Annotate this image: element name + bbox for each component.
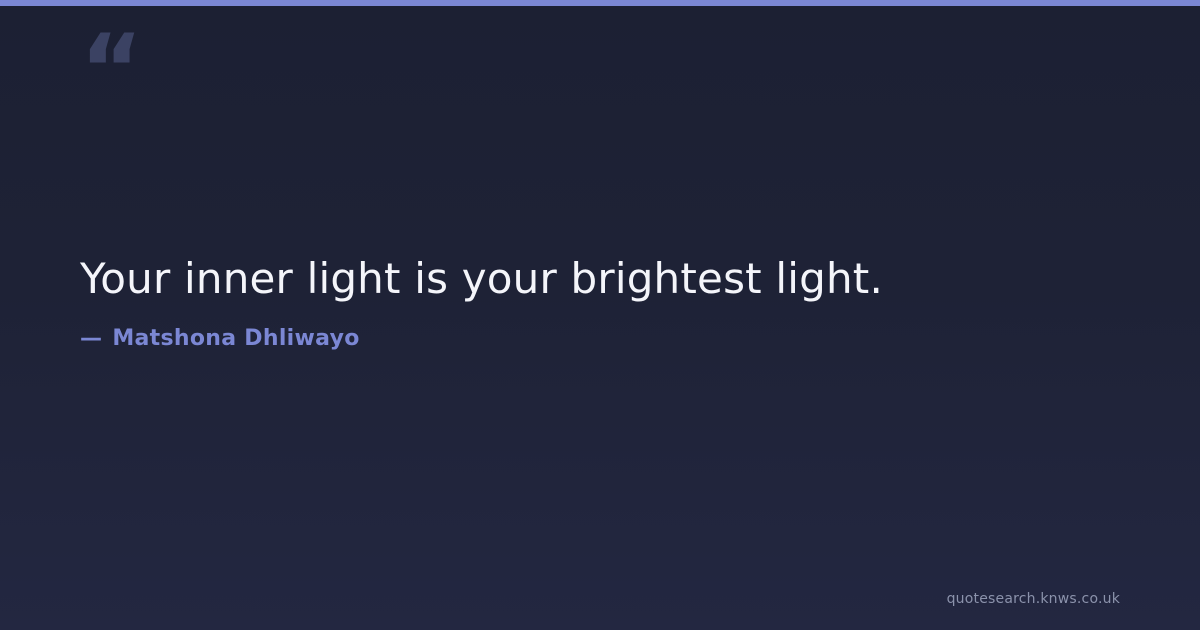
author-name: Matshona Dhliwayo: [112, 326, 359, 351]
quote-block: Your inner light is your brightest light…: [80, 252, 1120, 352]
quote-card: “ Your inner light is your brightest lig…: [0, 0, 1200, 630]
quote-attribution: —Matshona Dhliwayo: [80, 306, 1120, 352]
top-accent-bar: [0, 0, 1200, 6]
quote-text: Your inner light is your brightest light…: [80, 252, 1120, 306]
site-watermark: quotesearch.knws.co.uk: [947, 592, 1120, 606]
attribution-dash: —: [80, 326, 102, 352]
quotation-mark-icon: “: [80, 22, 141, 118]
